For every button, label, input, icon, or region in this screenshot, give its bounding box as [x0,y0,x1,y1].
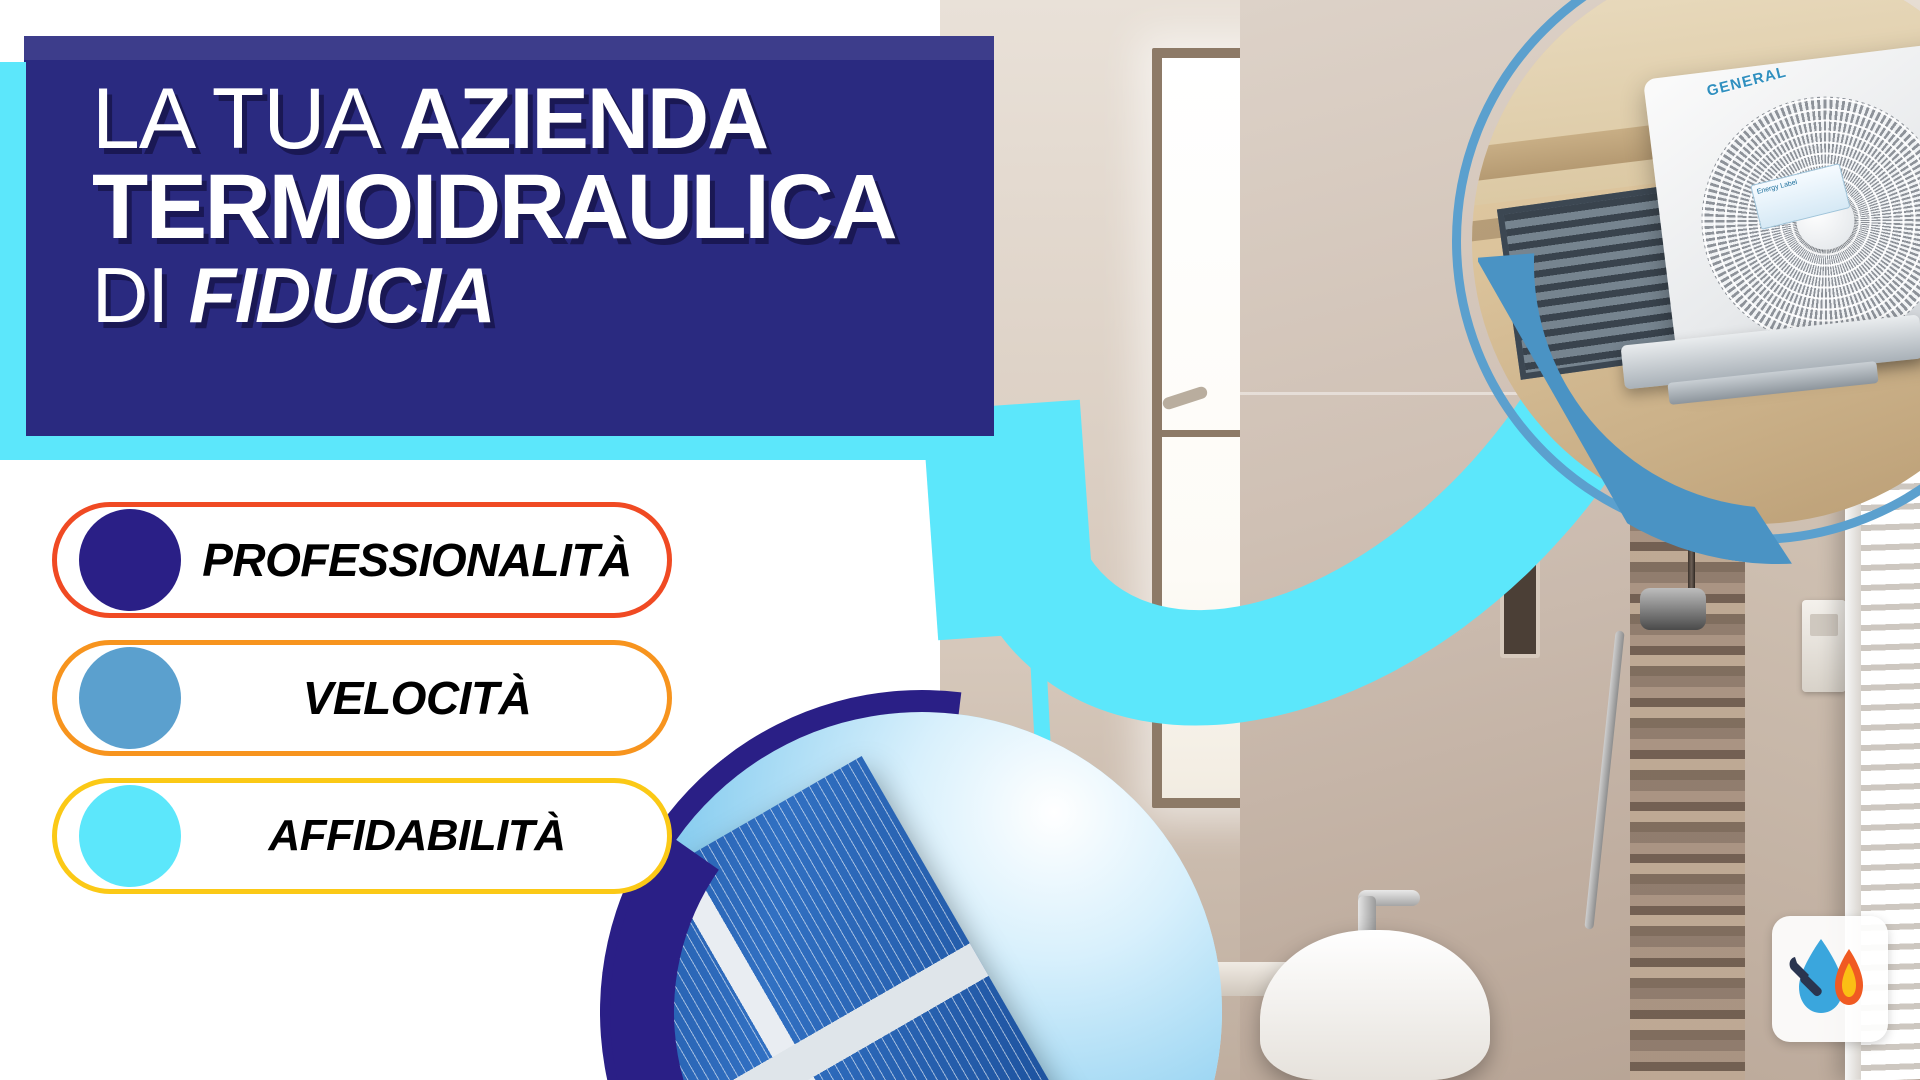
headline-line-1: LA TUA AZIENDA [92,80,994,159]
feature-pill-label: PROFESSIONALITÀ [181,533,667,587]
pill-dot-cyan [79,785,181,887]
feature-pill-velocita[interactable]: VELOCITÀ [52,640,672,756]
headline-line-3-light: DI [92,251,189,339]
cyan-accent-strip [0,436,990,460]
headline-line-3-italic: FIDUCIA [189,251,495,339]
feature-pill-affidabilita[interactable]: AFFIDABILITÀ [52,778,672,894]
pill-dot-steel-blue [79,647,181,749]
headline-line-1-light: LA TUA [92,71,399,167]
wall-switch-plate [1802,600,1846,692]
water-drop-flame-wrench-icon [1787,933,1873,1025]
headline-line-2: TERMOIDRAULICA [92,165,994,250]
shower-mixer-valve [1640,588,1706,630]
cyan-accent-bar [0,62,26,444]
promo-banner: GENERAL Energy Label LA TUA AZIENDA TERM… [0,0,1920,1080]
feature-pill-professionalita[interactable]: PROFESSIONALITÀ [52,502,672,618]
pill-dot-navy [79,509,181,611]
feature-pill-label: AFFIDABILITÀ [181,811,667,861]
feature-pill-label: VELOCITÀ [181,671,667,725]
headline-banner: LA TUA AZIENDA TERMOIDRAULICA DI FIDUCIA [24,36,994,436]
feature-pill-list: PROFESSIONALITÀ VELOCITÀ AFFIDABILITÀ [52,502,832,916]
plumbing-heating-logo [1772,916,1888,1042]
headline-line-3: DI FIDUCIA [92,260,994,332]
headline-line-1-bold: AZIENDA [399,71,767,167]
